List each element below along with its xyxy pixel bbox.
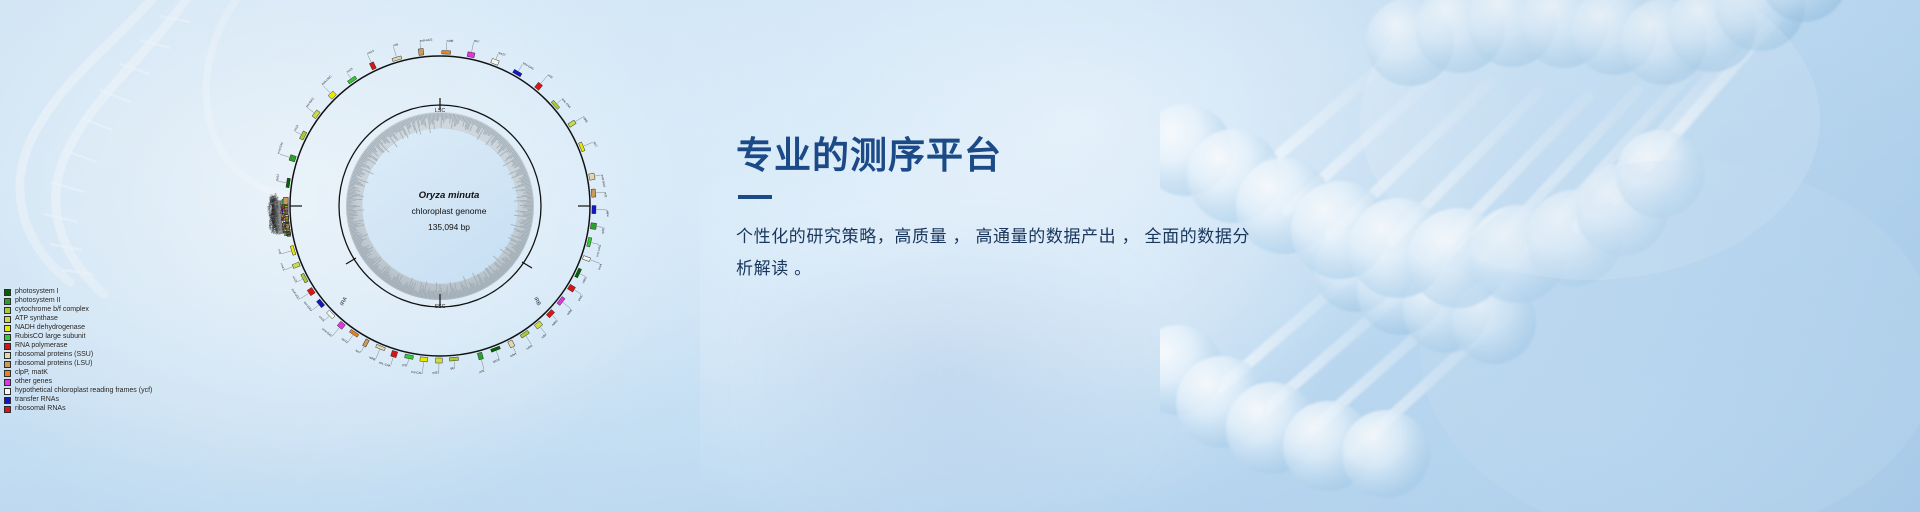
svg-text:rrn23: rrn23 <box>292 275 299 283</box>
legend-color-swatch <box>4 406 11 413</box>
svg-text:ccsA: ccsA <box>597 263 603 270</box>
legend-item-label: RubisCO large subunit <box>15 333 85 341</box>
legend-item: other genes <box>4 378 304 387</box>
svg-text:ndhB: ndhB <box>368 355 376 361</box>
title-underline-rule <box>738 195 772 199</box>
svg-text:rrn23: rrn23 <box>346 67 354 74</box>
legend-item-label: ribosomal proteins (LSU) <box>15 360 92 368</box>
legend-item-label: hypothetical chloroplast reading frames … <box>15 387 152 395</box>
svg-text:ndhH: ndhH <box>509 352 517 359</box>
legend-item-label: RNA polymerase <box>15 342 68 350</box>
svg-text:ndhG: ndhG <box>551 318 559 326</box>
legend-color-swatch <box>4 334 11 341</box>
svg-text:ycf2: ycf2 <box>547 73 554 80</box>
svg-text:ndhD: ndhD <box>581 276 588 284</box>
svg-text:ndhF: ndhF <box>605 210 609 217</box>
legend-item: NADH dehydrogenase <box>4 324 304 333</box>
svg-text:rps19: rps19 <box>273 193 277 201</box>
legend-item: ribosomal proteins (SSU) <box>4 351 304 360</box>
svg-text:rpl2: rpl2 <box>450 366 456 370</box>
legend-item: RubisCO large subunit <box>4 333 304 342</box>
legend-item-label: ATP synthase <box>15 315 58 323</box>
legend-color-swatch <box>4 325 11 332</box>
legend-color-swatch <box>4 379 11 386</box>
region-label-ira: IRA <box>339 296 349 307</box>
svg-text:rrn5: rrn5 <box>277 249 282 255</box>
legend-item-label: cytochrome b/f complex <box>15 306 89 314</box>
legend-item-label: ribosomal proteins (SSU) <box>15 351 93 359</box>
legend-item: ribosomal proteins (LSU) <box>4 360 304 369</box>
svg-text:trnV-GAC: trnV-GAC <box>321 327 333 338</box>
svg-text:rpl23: rpl23 <box>432 370 439 374</box>
svg-text:rrn16: rrn16 <box>318 315 326 323</box>
svg-text:rps7: rps7 <box>593 141 599 148</box>
legend-color-swatch <box>4 307 11 314</box>
svg-text:trnI-GAU: trnI-GAU <box>305 97 315 109</box>
region-label-lsc: LSC <box>435 108 446 114</box>
legend-color-swatch <box>4 298 11 305</box>
svg-text:rrn4.5: rrn4.5 <box>366 49 375 56</box>
svg-text:ycf2: ycf2 <box>402 363 408 368</box>
svg-text:trnL-CAA: trnL-CAA <box>561 97 572 109</box>
legend-item: ATP synthase <box>4 315 304 324</box>
svg-text:trnI-CAU: trnI-CAU <box>411 370 423 375</box>
banner-title: 专业的测序平台 <box>736 136 1356 177</box>
svg-text:trnR-ACG: trnR-ACG <box>419 37 433 43</box>
svg-text:rps15: rps15 <box>492 357 501 363</box>
banner-description: 个性化的研究策略，高质量 ， 高通量的数据产出 ， 全面的数据分析解读 。 <box>736 221 1256 285</box>
svg-text:psaC: psaC <box>577 294 584 302</box>
legend-color-swatch <box>4 352 11 359</box>
svg-text:rpl32: rpl32 <box>601 227 606 234</box>
svg-text:trnL-CAA: trnL-CAA <box>379 360 392 367</box>
svg-text:ycf1: ycf1 <box>603 192 607 198</box>
legend-item-label: transfer RNAs <box>15 396 59 404</box>
svg-text:trnV-GAC: trnV-GAC <box>276 141 284 154</box>
banner-stage: LSC IRA SSC IRB rps12trnV-GACrrn16trnI-G… <box>0 0 1920 512</box>
svg-text:trnA-UGC: trnA-UGC <box>321 74 333 86</box>
svg-text:trnI-GAU: trnI-GAU <box>303 301 313 312</box>
legend-color-swatch <box>4 289 11 296</box>
svg-text:trnV-GAC: trnV-GAC <box>522 61 535 71</box>
svg-text:ndhB: ndhB <box>582 115 589 123</box>
genome-map-legend: photosystem Iphotosystem IIcytochrome b/… <box>4 288 304 414</box>
svg-text:rps12: rps12 <box>498 51 507 57</box>
region-label-ssc: SSC <box>434 304 445 310</box>
svg-text:rps12: rps12 <box>275 173 280 181</box>
legend-item-label: photosystem I <box>15 288 59 296</box>
svg-text:ndhB: ndhB <box>447 39 454 43</box>
svg-text:trnN-GUU: trnN-GUU <box>600 174 606 187</box>
svg-text:trnL-UAG: trnL-UAG <box>595 244 602 258</box>
svg-text:ycf1: ycf1 <box>479 369 486 374</box>
svg-text:rrn16: rrn16 <box>293 124 300 132</box>
svg-text:rps7: rps7 <box>474 39 481 44</box>
legend-item: photosystem I <box>4 288 304 297</box>
legend-color-swatch <box>4 388 11 395</box>
legend-item: photosystem II <box>4 297 304 306</box>
legend-color-swatch <box>4 370 11 377</box>
svg-text:ndhI: ndhI <box>540 333 547 340</box>
legend-color-swatch <box>4 397 11 404</box>
legend-item: RNA polymerase <box>4 342 304 351</box>
svg-text:rrn5: rrn5 <box>393 42 399 47</box>
legend-item: clpP, matK <box>4 369 304 378</box>
region-label-irb: IRB <box>532 296 542 307</box>
legend-color-swatch <box>4 316 11 323</box>
legend-item-label: photosystem II <box>15 297 61 305</box>
svg-text:rps7: rps7 <box>355 348 362 354</box>
legend-item: transfer RNAs <box>4 396 304 405</box>
legend-color-swatch <box>4 343 11 350</box>
legend-item-label: clpP, matK <box>15 369 48 377</box>
svg-text:ndhA: ndhA <box>525 344 533 351</box>
svg-text:ndhE: ndhE <box>566 308 573 316</box>
legend-item: hypothetical chloroplast reading frames … <box>4 387 304 396</box>
legend-item-label: NADH dehydrogenase <box>15 324 85 332</box>
legend-item-label: other genes <box>15 378 52 386</box>
legend-item: ribosomal RNAs <box>4 405 304 414</box>
legend-item: cytochrome b/f complex <box>4 306 304 315</box>
svg-text:rrn4.5: rrn4.5 <box>279 262 286 271</box>
banner-text-panel: 专业的测序平台 个性化的研究策略，高质量 ， 高通量的数据产出 ， 全面的数据分… <box>736 136 1356 285</box>
legend-color-swatch <box>4 361 11 368</box>
svg-text:rps12: rps12 <box>341 337 350 345</box>
legend-item-label: ribosomal RNAs <box>15 405 66 413</box>
